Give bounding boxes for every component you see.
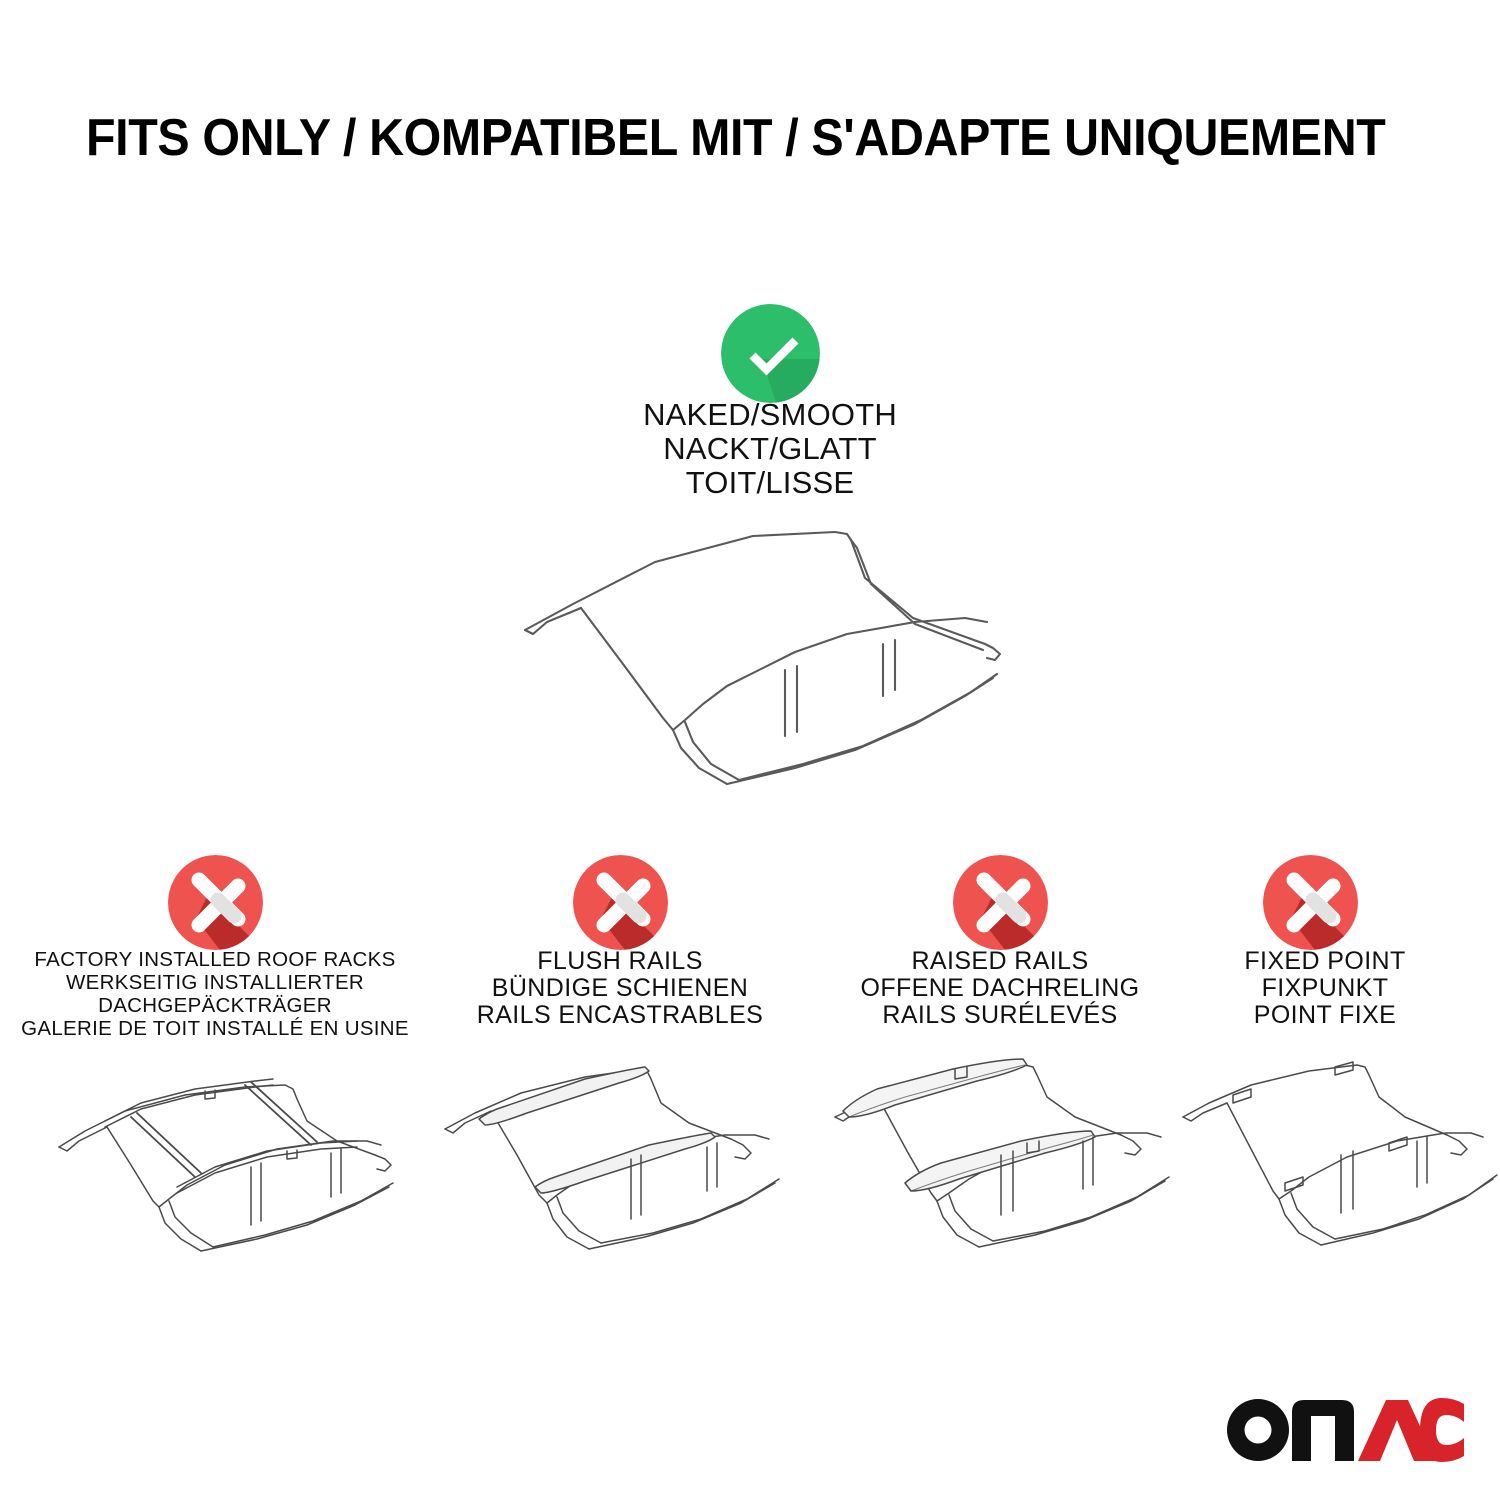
car-roof-raised-rails-illustration [825,1055,1215,1285]
incompatible-caption-raised-rails: RAISED RAILS OFFENE DACHRELING RAILS SUR… [810,948,1190,1029]
incompatible-caption-factory-racks: FACTORY INSTALLED ROOF RACKS WERKSEITIG … [15,948,415,1040]
green-check-circle-icon [721,304,820,403]
cross-circle-svg [953,855,1048,950]
caption-line: TOIT/LISSE [570,466,970,500]
car-roof-flush-rails-illustration [435,1055,825,1285]
cross-circle-svg [168,855,263,950]
cross-circle-svg [573,855,668,950]
caption-line: NAKED/SMOOTH [570,398,970,432]
caption-line: NACKT/GLATT [570,432,970,466]
check-circle-svg [721,304,820,403]
caption-line: RAILS ENCASTRABLES [430,1002,810,1029]
car-roof-factory-installed-racks-illustration [45,1055,435,1285]
caption-line: FIXED POINT [1160,948,1490,975]
red-cross-circle-icon [168,855,263,950]
caption-line: WERKSEITIG INSTALLIERTER [15,971,415,994]
caption-line: FIXPUNKT [1160,975,1490,1002]
caption-line: OFFENE DACHRELING [810,975,1190,1002]
caption-line: BÜNDIGE SCHIENEN [430,975,810,1002]
omac-logo: OMAC [1214,1390,1464,1464]
cross-circle-svg [1263,855,1358,950]
product-fitment-infographic: FITS ONLY / KOMPATIBEL MIT / S'ADAPTE UN… [0,0,1500,1500]
caption-line: DACHGEPÄCKTRÄGER [15,994,415,1017]
caption-line: FLUSH RAILS [430,948,810,975]
compatible-caption: NAKED/SMOOTH NACKT/GLATT TOIT/LISSE [570,398,970,500]
red-cross-circle-icon [573,855,668,950]
caption-line: POINT FIXE [1160,1002,1490,1029]
page-title: FITS ONLY / KOMPATIBEL MIT / S'ADAPTE UN… [86,108,1332,168]
incompatible-caption-fixed-point: FIXED POINT FIXPUNKT POINT FIXE [1160,948,1490,1029]
caption-line: FACTORY INSTALLED ROOF RACKS [15,948,415,971]
car-roof-naked-smooth-illustration [495,518,1035,808]
caption-line: RAILS SURÉLEVÉS [810,1002,1190,1029]
red-cross-circle-icon [953,855,1048,950]
red-cross-circle-icon [1263,855,1358,950]
incompatible-caption-flush-rails: FLUSH RAILS BÜNDIGE SCHIENEN RAILS ENCAS… [430,948,810,1029]
caption-line: GALERIE DE TOIT INSTALLÉ EN USINE [15,1017,415,1040]
caption-line: RAISED RAILS [810,948,1190,975]
car-roof-fixed-point-illustration [1175,1055,1500,1285]
